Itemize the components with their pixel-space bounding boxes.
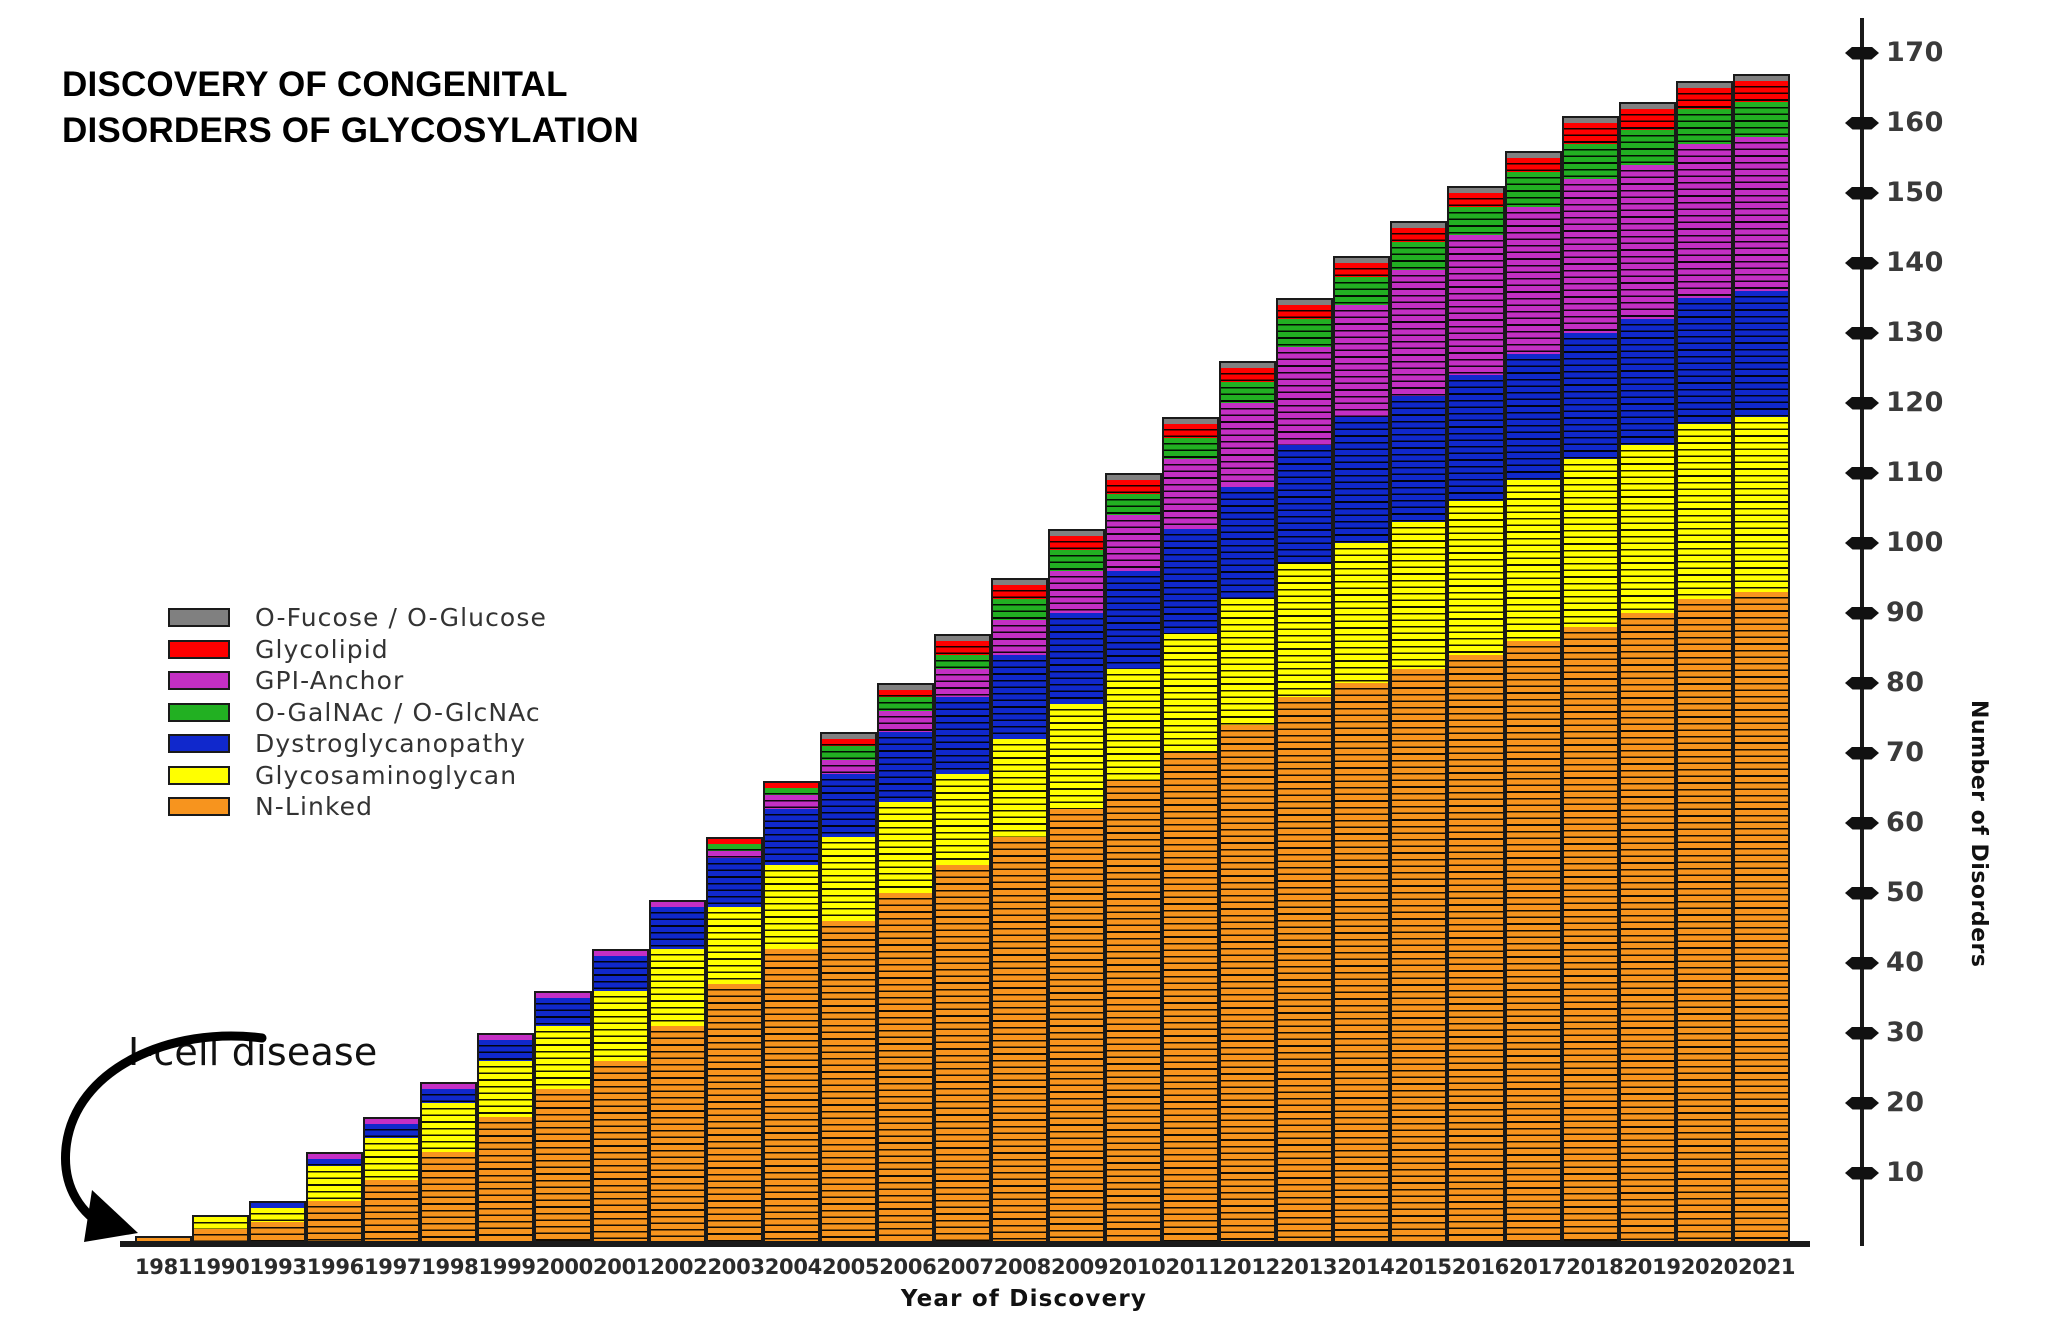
bar-segment — [306, 1166, 363, 1201]
plot-area — [135, 20, 1790, 1243]
bar-segment — [934, 865, 991, 1243]
bar-segment — [1447, 235, 1504, 375]
bar-stack — [1105, 20, 1162, 1243]
bar-stack — [1676, 20, 1733, 1243]
bar-segment — [1447, 655, 1504, 1243]
bar-segment — [1219, 599, 1276, 725]
bar-segment — [877, 732, 934, 802]
bar-stack — [1390, 20, 1447, 1243]
bar-segment — [306, 1159, 363, 1166]
bar-stack — [420, 20, 477, 1243]
y-tick-label: 120 — [1886, 387, 1944, 418]
y-tick-label: 10 — [1886, 1157, 1925, 1188]
x-tick-label: 2002 — [650, 1255, 707, 1279]
bar-segment — [477, 1117, 534, 1243]
bar-stack — [1219, 20, 1276, 1243]
x-tick-label: 1990 — [192, 1255, 249, 1279]
x-tick-label: 2014 — [1337, 1255, 1394, 1279]
bar-segment — [592, 949, 649, 956]
bar-segment — [1619, 445, 1676, 613]
bar-segment — [1733, 291, 1790, 417]
x-axis-title: Year of Discovery — [0, 1286, 2048, 1312]
x-tick-label: 2007 — [937, 1255, 994, 1279]
x-tick-label: 1981 — [135, 1255, 192, 1279]
bar-segment — [1219, 403, 1276, 487]
bar-segment — [477, 1033, 534, 1040]
bar-segment — [363, 1138, 420, 1180]
bar-segment — [1562, 627, 1619, 1243]
y-tick-label: 140 — [1886, 247, 1944, 278]
bar-stack — [1333, 20, 1390, 1243]
x-axis-ticks: 1981199019931996199719981999200020012002… — [135, 1255, 1790, 1279]
x-tick-label: 2004 — [765, 1255, 822, 1279]
bar-segment — [1105, 515, 1162, 571]
bar-segment — [420, 1082, 477, 1089]
bar-stack — [1562, 20, 1619, 1243]
bar-segment — [1162, 424, 1219, 438]
bar-segment — [1162, 529, 1219, 634]
y-tick-label: 20 — [1886, 1087, 1925, 1118]
y-tick-mark — [1845, 47, 1879, 60]
x-tick-label: 2001 — [593, 1255, 650, 1279]
bar-stack — [477, 20, 534, 1243]
y-axis-line — [1860, 18, 1864, 1246]
bar-segment — [1390, 669, 1447, 1243]
bar-segment — [534, 1089, 591, 1243]
x-tick-label: 1993 — [250, 1255, 307, 1279]
bar-segment — [1276, 305, 1333, 319]
bar-segment — [1562, 459, 1619, 627]
bar-stack — [649, 20, 706, 1243]
y-tick-mark — [1845, 887, 1879, 900]
bar-segment — [1447, 375, 1504, 501]
bar-segment — [1733, 137, 1790, 291]
bar-segment — [1333, 543, 1390, 683]
bar-segment — [877, 802, 934, 893]
bar-segment — [1276, 347, 1333, 445]
bar-segment — [1048, 536, 1105, 550]
bar-stack — [763, 20, 820, 1243]
bar-segment — [363, 1124, 420, 1138]
y-tick-label: 150 — [1886, 177, 1944, 208]
bar-stack — [1447, 20, 1504, 1243]
x-tick-label: 2020 — [1681, 1255, 1738, 1279]
bar-segment — [763, 781, 820, 788]
bar-segment — [877, 711, 934, 732]
bar-stack — [934, 20, 991, 1243]
bar-segment — [1505, 151, 1562, 158]
x-tick-label: 2005 — [822, 1255, 879, 1279]
bar-segment — [1105, 494, 1162, 515]
bar-segment — [1219, 725, 1276, 1243]
bar-segment — [877, 893, 934, 1243]
y-tick-mark — [1845, 607, 1879, 620]
bar-segment — [1447, 501, 1504, 655]
bar-segment — [363, 1117, 420, 1124]
x-tick-label: 1999 — [479, 1255, 536, 1279]
bar-segment — [1219, 487, 1276, 599]
y-tick-label: 170 — [1886, 37, 1944, 68]
bar-segment — [1162, 459, 1219, 529]
bar-stack — [534, 20, 591, 1243]
bar-segment — [991, 578, 1048, 585]
bar-segment — [1562, 333, 1619, 459]
y-tick-label: 80 — [1886, 667, 1925, 698]
bar-segment — [1619, 165, 1676, 319]
bar-segment — [1505, 207, 1562, 354]
bar-segment — [820, 760, 877, 774]
bar-segment — [934, 641, 991, 655]
bar-segment — [706, 858, 763, 907]
bar-segment — [1733, 74, 1790, 81]
bar-segment — [934, 655, 991, 669]
bar-segment — [1733, 592, 1790, 1243]
bar-segment — [534, 1026, 591, 1089]
bar-segment — [1333, 417, 1390, 543]
bar-segment — [1333, 263, 1390, 277]
bar-segment — [1733, 102, 1790, 137]
bar-segment — [1162, 438, 1219, 459]
x-tick-label: 2003 — [708, 1255, 765, 1279]
y-tick-mark — [1845, 117, 1879, 130]
bar-segment — [1390, 221, 1447, 228]
bar-segment — [1505, 641, 1562, 1243]
bar-segment — [1505, 172, 1562, 207]
y-tick-mark — [1845, 677, 1879, 690]
x-tick-label: 2009 — [1051, 1255, 1108, 1279]
bar-segment — [1333, 256, 1390, 263]
bar-segment — [1619, 109, 1676, 130]
bar-segment — [820, 774, 877, 837]
bar-segment — [1390, 396, 1447, 522]
x-tick-label: 2019 — [1624, 1255, 1681, 1279]
curved-arrow-icon — [52, 1020, 272, 1245]
bar-segment — [649, 1026, 706, 1243]
y-tick-mark — [1845, 537, 1879, 550]
bar-segment — [763, 795, 820, 809]
bar-segment — [763, 865, 820, 949]
y-tick-mark — [1845, 397, 1879, 410]
bar-stack — [1733, 20, 1790, 1243]
bar-segment — [1676, 144, 1733, 298]
bar-segment — [820, 921, 877, 1243]
x-tick-label: 2012 — [1223, 1255, 1280, 1279]
bar-segment — [1276, 319, 1333, 347]
x-tick-label: 2008 — [994, 1255, 1051, 1279]
y-tick-label: 110 — [1886, 457, 1944, 488]
bar-segment — [534, 998, 591, 1026]
bar-segment — [1333, 277, 1390, 305]
bar-stack — [820, 20, 877, 1243]
y-axis-title: Number of Disorders — [1966, 700, 1991, 968]
x-axis-line — [120, 1241, 1810, 1247]
bar-segment — [1562, 144, 1619, 179]
y-tick-mark — [1845, 957, 1879, 970]
bar-segment — [1105, 480, 1162, 494]
bar-segment — [592, 991, 649, 1061]
bar-segment — [1619, 102, 1676, 109]
bar-segment — [420, 1089, 477, 1103]
x-tick-label: 2000 — [536, 1255, 593, 1279]
bar-segment — [991, 585, 1048, 599]
bar-stack — [1276, 20, 1333, 1243]
bar-segment — [1105, 571, 1162, 669]
bar-stack — [1162, 20, 1219, 1243]
bar-segment — [991, 620, 1048, 655]
bar-segment — [706, 837, 763, 844]
bar-stack — [706, 20, 763, 1243]
bar-segment — [1219, 361, 1276, 368]
y-tick-mark — [1845, 1167, 1879, 1180]
bar-segment — [1105, 473, 1162, 480]
bar-segment — [934, 774, 991, 865]
x-tick-label: 1998 — [421, 1255, 478, 1279]
bar-segment — [1105, 781, 1162, 1243]
x-tick-label: 2016 — [1452, 1255, 1509, 1279]
bar-segment — [763, 809, 820, 865]
y-tick-label: 40 — [1886, 947, 1925, 978]
bar-segment — [877, 690, 934, 697]
bar-segment — [1048, 809, 1105, 1243]
bar-segment — [1048, 704, 1105, 809]
bar-segment — [1505, 158, 1562, 172]
y-tick-mark — [1845, 327, 1879, 340]
bar-stack — [991, 20, 1048, 1243]
y-tick-mark — [1845, 187, 1879, 200]
bar-segment — [1619, 613, 1676, 1243]
y-tick-mark — [1845, 747, 1879, 760]
bar-stack — [1048, 20, 1105, 1243]
bar-stack — [1505, 20, 1562, 1243]
bar-segment — [1505, 480, 1562, 641]
bar-segment — [763, 949, 820, 1243]
bar-segment — [706, 984, 763, 1243]
bar-segment — [1447, 207, 1504, 235]
x-tick-label: 2010 — [1108, 1255, 1165, 1279]
bar-segment — [1333, 683, 1390, 1243]
bar-segment — [1505, 354, 1562, 480]
y-tick-mark — [1845, 467, 1879, 480]
bar-segment — [934, 669, 991, 697]
bar-segment — [420, 1103, 477, 1152]
y-tick-label: 70 — [1886, 737, 1925, 768]
bar-segment — [592, 1061, 649, 1243]
bar-segment — [477, 1040, 534, 1061]
bar-segment — [1447, 186, 1504, 193]
bar-segment — [1390, 242, 1447, 270]
bar-segment — [649, 900, 706, 907]
bar-segment — [477, 1061, 534, 1117]
y-tick-mark — [1845, 257, 1879, 270]
bar-segment — [877, 683, 934, 690]
bar-segment — [1105, 669, 1162, 781]
bar-segment — [1048, 571, 1105, 613]
bar-stack — [1619, 20, 1676, 1243]
bar-segment — [1162, 417, 1219, 424]
bar-segment — [592, 956, 649, 991]
bar-segment — [877, 697, 934, 711]
bar-segment — [1390, 270, 1447, 396]
x-tick-label: 2021 — [1738, 1255, 1795, 1279]
bar-segment — [1562, 179, 1619, 333]
bar-segment — [1048, 550, 1105, 571]
bar-segment — [820, 837, 877, 921]
x-tick-label: 2018 — [1566, 1255, 1623, 1279]
bar-segment — [1676, 424, 1733, 599]
y-tick-mark — [1845, 1097, 1879, 1110]
y-tick-mark — [1845, 1027, 1879, 1040]
y-tick-label: 30 — [1886, 1017, 1925, 1048]
x-tick-label: 2015 — [1395, 1255, 1452, 1279]
bar-segment — [1219, 368, 1276, 382]
y-tick-label: 100 — [1886, 527, 1944, 558]
bar-segment — [1562, 116, 1619, 123]
bar-segment — [706, 851, 763, 858]
bar-segment — [1447, 193, 1504, 207]
y-tick-label: 60 — [1886, 807, 1925, 838]
bar-segment — [934, 634, 991, 641]
bar-segment — [1276, 697, 1333, 1243]
y-tick-mark — [1845, 817, 1879, 830]
bar-segment — [991, 599, 1048, 620]
bar-segment — [1676, 599, 1733, 1243]
bar-segment — [1162, 753, 1219, 1243]
x-tick-label: 2006 — [879, 1255, 936, 1279]
bar-segment — [820, 732, 877, 739]
bar-segment — [1048, 613, 1105, 704]
bar-segment — [1162, 634, 1219, 753]
bar-segment — [420, 1152, 477, 1243]
bar-segment — [1276, 445, 1333, 564]
bar-segment — [306, 1152, 363, 1159]
x-tick-label: 2017 — [1509, 1255, 1566, 1279]
bar-segment — [1619, 130, 1676, 165]
x-tick-label: 1997 — [364, 1255, 421, 1279]
bar-segment — [1048, 529, 1105, 536]
bar-segment — [763, 788, 820, 795]
bar-segment — [534, 991, 591, 998]
bar-segment — [934, 697, 991, 774]
bar-segment — [991, 655, 1048, 739]
bar-segment — [1676, 88, 1733, 109]
y-tick-label: 50 — [1886, 877, 1925, 908]
bar-segment — [820, 739, 877, 746]
bar-segment — [1676, 298, 1733, 424]
y-tick-label: 130 — [1886, 317, 1944, 348]
y-tick-label: 90 — [1886, 597, 1925, 628]
bar-segment — [706, 844, 763, 851]
bar-segment — [1276, 298, 1333, 305]
bar-segment — [649, 949, 706, 1026]
bar-segment — [706, 907, 763, 984]
chart-canvas: DISCOVERY OF CONGENITAL DISORDERS OF GLY… — [0, 0, 2048, 1327]
bar-segment — [1219, 382, 1276, 403]
bar-segment — [991, 739, 1048, 837]
y-tick-label: 160 — [1886, 107, 1944, 138]
bar-segment — [1333, 305, 1390, 417]
bar-segment — [820, 746, 877, 760]
x-tick-label: 2011 — [1166, 1255, 1223, 1279]
bar-stack — [877, 20, 934, 1243]
bar-segment — [649, 907, 706, 949]
x-tick-label: 2013 — [1280, 1255, 1337, 1279]
bar-group — [135, 20, 1790, 1243]
x-tick-label: 1996 — [307, 1255, 364, 1279]
bar-segment — [306, 1201, 363, 1243]
bar-segment — [1276, 564, 1333, 697]
bar-segment — [1562, 123, 1619, 144]
bar-stack — [592, 20, 649, 1243]
bar-segment — [363, 1180, 420, 1243]
bar-segment — [1390, 228, 1447, 242]
bar-segment — [1676, 109, 1733, 144]
bar-segment — [1676, 81, 1733, 88]
bar-segment — [1390, 522, 1447, 669]
bar-segment — [1733, 417, 1790, 592]
bar-segment — [1733, 81, 1790, 102]
bar-segment — [991, 837, 1048, 1243]
bar-segment — [1619, 319, 1676, 445]
